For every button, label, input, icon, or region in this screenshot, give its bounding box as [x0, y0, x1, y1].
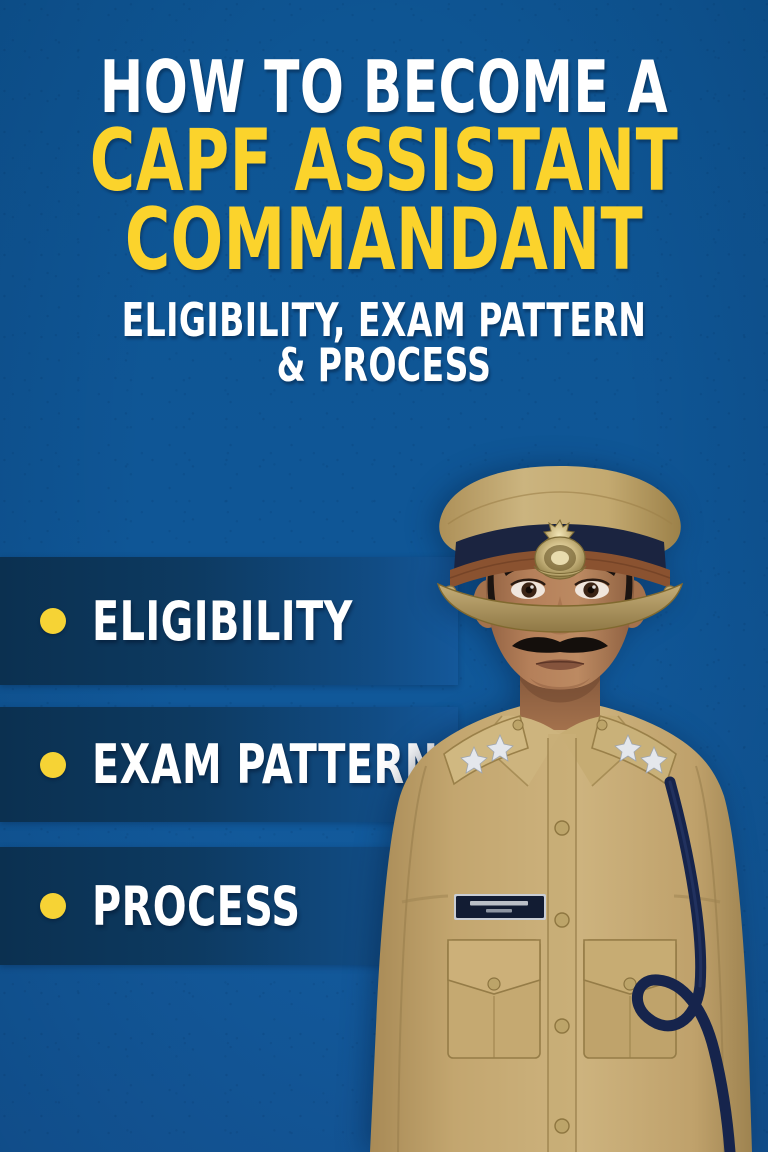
peaked-cap	[438, 466, 682, 632]
bullet-dot-icon	[40, 752, 66, 778]
subtitle-row-2: & PROCESS	[77, 342, 691, 389]
chest-pocket-left	[448, 940, 540, 1058]
bullet-dot-icon	[40, 608, 66, 634]
bullet-dot-icon	[40, 893, 66, 919]
subtitle-block: ELIGIBILITY, EXAM PATTERN & PROCESS	[0, 297, 768, 389]
shirt-placket	[548, 734, 576, 1152]
headline-line-3: COMMANDANT	[77, 199, 691, 282]
officer-figure	[370, 466, 752, 1152]
subtitle-row-1: ELIGIBILITY, EXAM PATTERN	[77, 297, 691, 344]
chest-pocket-right	[584, 940, 676, 1058]
poster-canvas: HOW TO BECOME A CAPF ASSISTANT COMMANDAN…	[0, 0, 768, 1152]
headline-block: HOW TO BECOME A CAPF ASSISTANT COMMANDAN…	[0, 54, 768, 389]
bullet-label-process: PROCESS	[92, 875, 300, 938]
name-plate	[454, 894, 546, 920]
police-officer-photo	[352, 466, 768, 1152]
bullet-label-eligibility: ELIGIBILITY	[92, 590, 353, 653]
